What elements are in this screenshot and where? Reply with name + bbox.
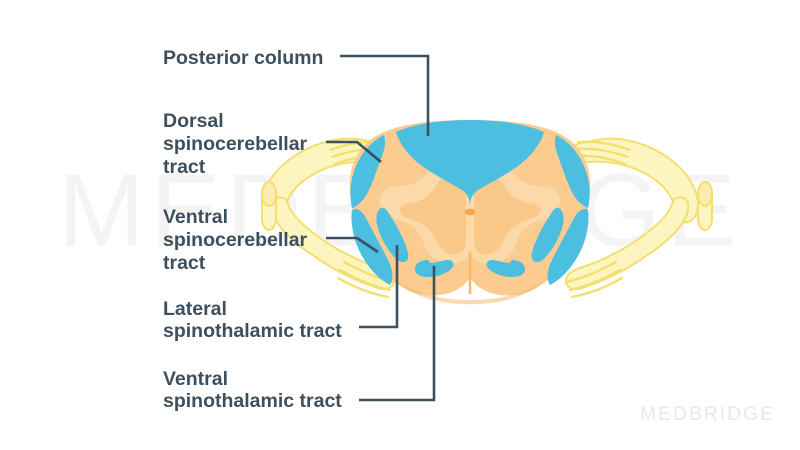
- label-dorsal-spinocerebellar-tract-line-1: spinocerebellar: [163, 133, 308, 155]
- label-ventral-spinothalamic-tract-line-0: Ventral: [163, 368, 228, 390]
- label-lateral-spinothalamic-tract-line-1: spinothalamic tract: [163, 320, 342, 342]
- spinal-cord-cross-section-diagram: MEDBRIDGE: [0, 0, 800, 450]
- label-dorsal-spinocerebellar-tract-line-2: tract: [163, 156, 206, 178]
- spinal-cord-body: [350, 120, 591, 304]
- nerve-root-stump-left-face: [262, 182, 276, 206]
- label-ventral-spinocerebellar-tract-line-0: Ventral: [163, 206, 228, 228]
- corner-watermark: MEDBRIDGE: [640, 404, 775, 425]
- illustration-figure: MEDBRIDGE: [0, 0, 800, 450]
- label-dorsal-spinocerebellar-tract-line-0: Dorsal: [163, 110, 224, 132]
- label-ventral-spinocerebellar-tract-line-1: spinocerebellar: [163, 229, 308, 251]
- label-ventral-spinothalamic-tract-line-1: spinothalamic tract: [163, 390, 342, 412]
- label-ventral-spinocerebellar-tract-line-2: tract: [163, 252, 206, 274]
- label-lateral-spinothalamic-tract-line-0: Lateral: [163, 298, 227, 320]
- nerve-root-stump-right-face: [698, 182, 712, 206]
- central-canal: [465, 209, 476, 216]
- label-posterior-column-line-0: Posterior column: [163, 47, 323, 69]
